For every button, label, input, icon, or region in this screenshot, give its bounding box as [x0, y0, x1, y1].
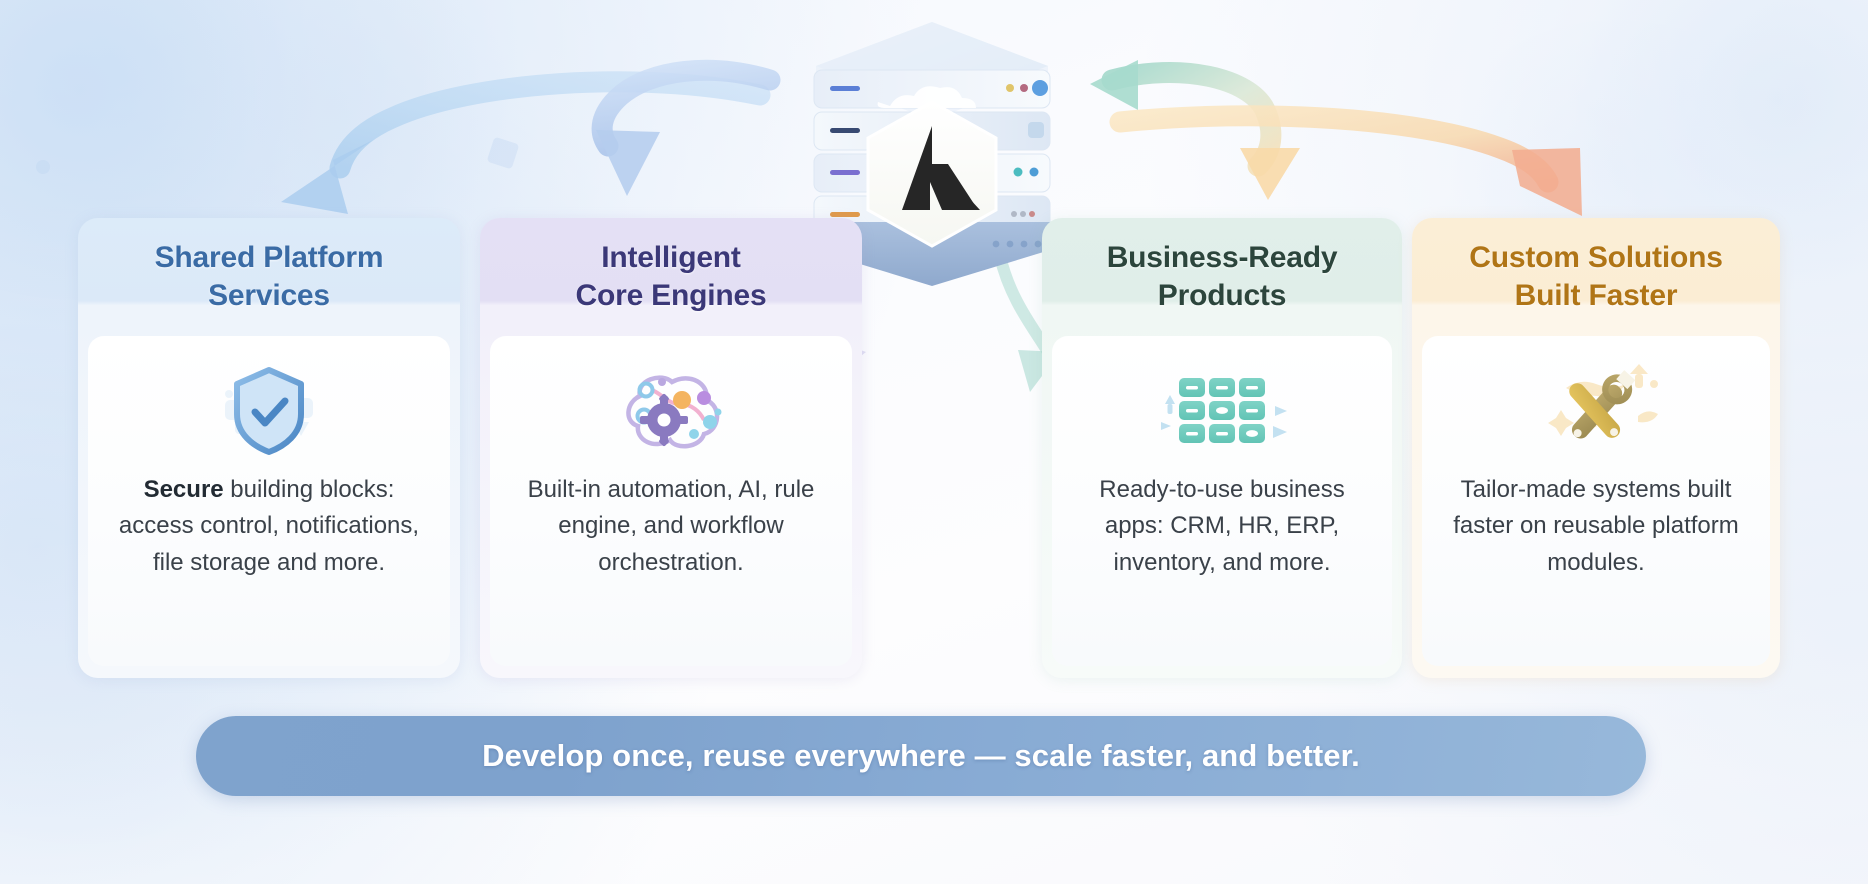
card-description-rest: Ready-to-use business apps: CRM, HR, ERP… [1099, 476, 1344, 576]
tagline-text: Develop once, reuse everywhere — scale f… [482, 738, 1360, 774]
card-description: Ready-to-use business apps: CRM, HR, ERP… [1068, 472, 1376, 581]
infographic-canvas: Shared Platform Services [0, 0, 1868, 884]
card-title-line-1: Custom Solutions [1469, 239, 1722, 277]
card-header: Business-Ready Products [1042, 218, 1402, 336]
card-header: Intelligent Core Engines [480, 218, 862, 336]
arrow-to-business-ready-products [1090, 60, 1300, 200]
card-description: Tailor-made systems built faster on reus… [1438, 472, 1754, 581]
card-intelligent-core-engines[interactable]: Intelligent Core Engines [480, 218, 862, 678]
card-title-line-2: Services [155, 277, 384, 315]
card-body: Ready-to-use business apps: CRM, HR, ERP… [1052, 336, 1392, 666]
card-description-rest: Built-in automation, AI, rule engine, an… [528, 476, 815, 576]
arrow-to-custom-solutions [1120, 116, 1582, 216]
pillar-cards-row: Shared Platform Services [0, 218, 1868, 678]
tagline-banner: Develop once, reuse everywhere — scale f… [196, 716, 1646, 796]
card-title-line-1: Shared Platform [155, 239, 384, 277]
card-description: Built-in automation, AI, rule engine, an… [506, 472, 836, 581]
card-description-rest: Tailor-made systems built faster on reus… [1453, 476, 1738, 576]
card-header: Custom Solutions Built Faster [1412, 218, 1780, 336]
card-title-line-2: Core Engines [576, 277, 767, 315]
arrow-to-shared-platform-services [281, 82, 760, 214]
card-body: Tailor-made systems built faster on reus… [1422, 336, 1770, 666]
app-grid-icon [1068, 358, 1376, 462]
shield-check-icon [104, 358, 434, 462]
card-custom-solutions-built-faster[interactable]: Custom Solutions Built Faster [1412, 218, 1780, 678]
background-speck [487, 137, 520, 170]
card-title-line-2: Products [1107, 277, 1338, 315]
card-business-ready-products[interactable]: Business-Ready Products [1042, 218, 1402, 678]
wrench-screwdriver-icon [1438, 358, 1754, 462]
card-body: Secure building blocks: access control, … [88, 336, 450, 666]
background-speck [36, 160, 50, 174]
card-header: Shared Platform Services [78, 218, 460, 336]
card-title-line-2: Built Faster [1469, 277, 1722, 315]
card-title-line-1: Intelligent [576, 239, 767, 277]
ai-brain-gear-icon [506, 358, 836, 462]
card-description: Secure building blocks: access control, … [104, 472, 434, 581]
card-title-line-1: Business-Ready [1107, 239, 1338, 277]
card-description-lead: Secure [144, 476, 224, 503]
card-body: Built-in automation, AI, rule engine, an… [490, 336, 852, 666]
arrow-to-intelligent-core-engines [596, 70, 770, 196]
card-shared-platform-services[interactable]: Shared Platform Services [78, 218, 460, 678]
